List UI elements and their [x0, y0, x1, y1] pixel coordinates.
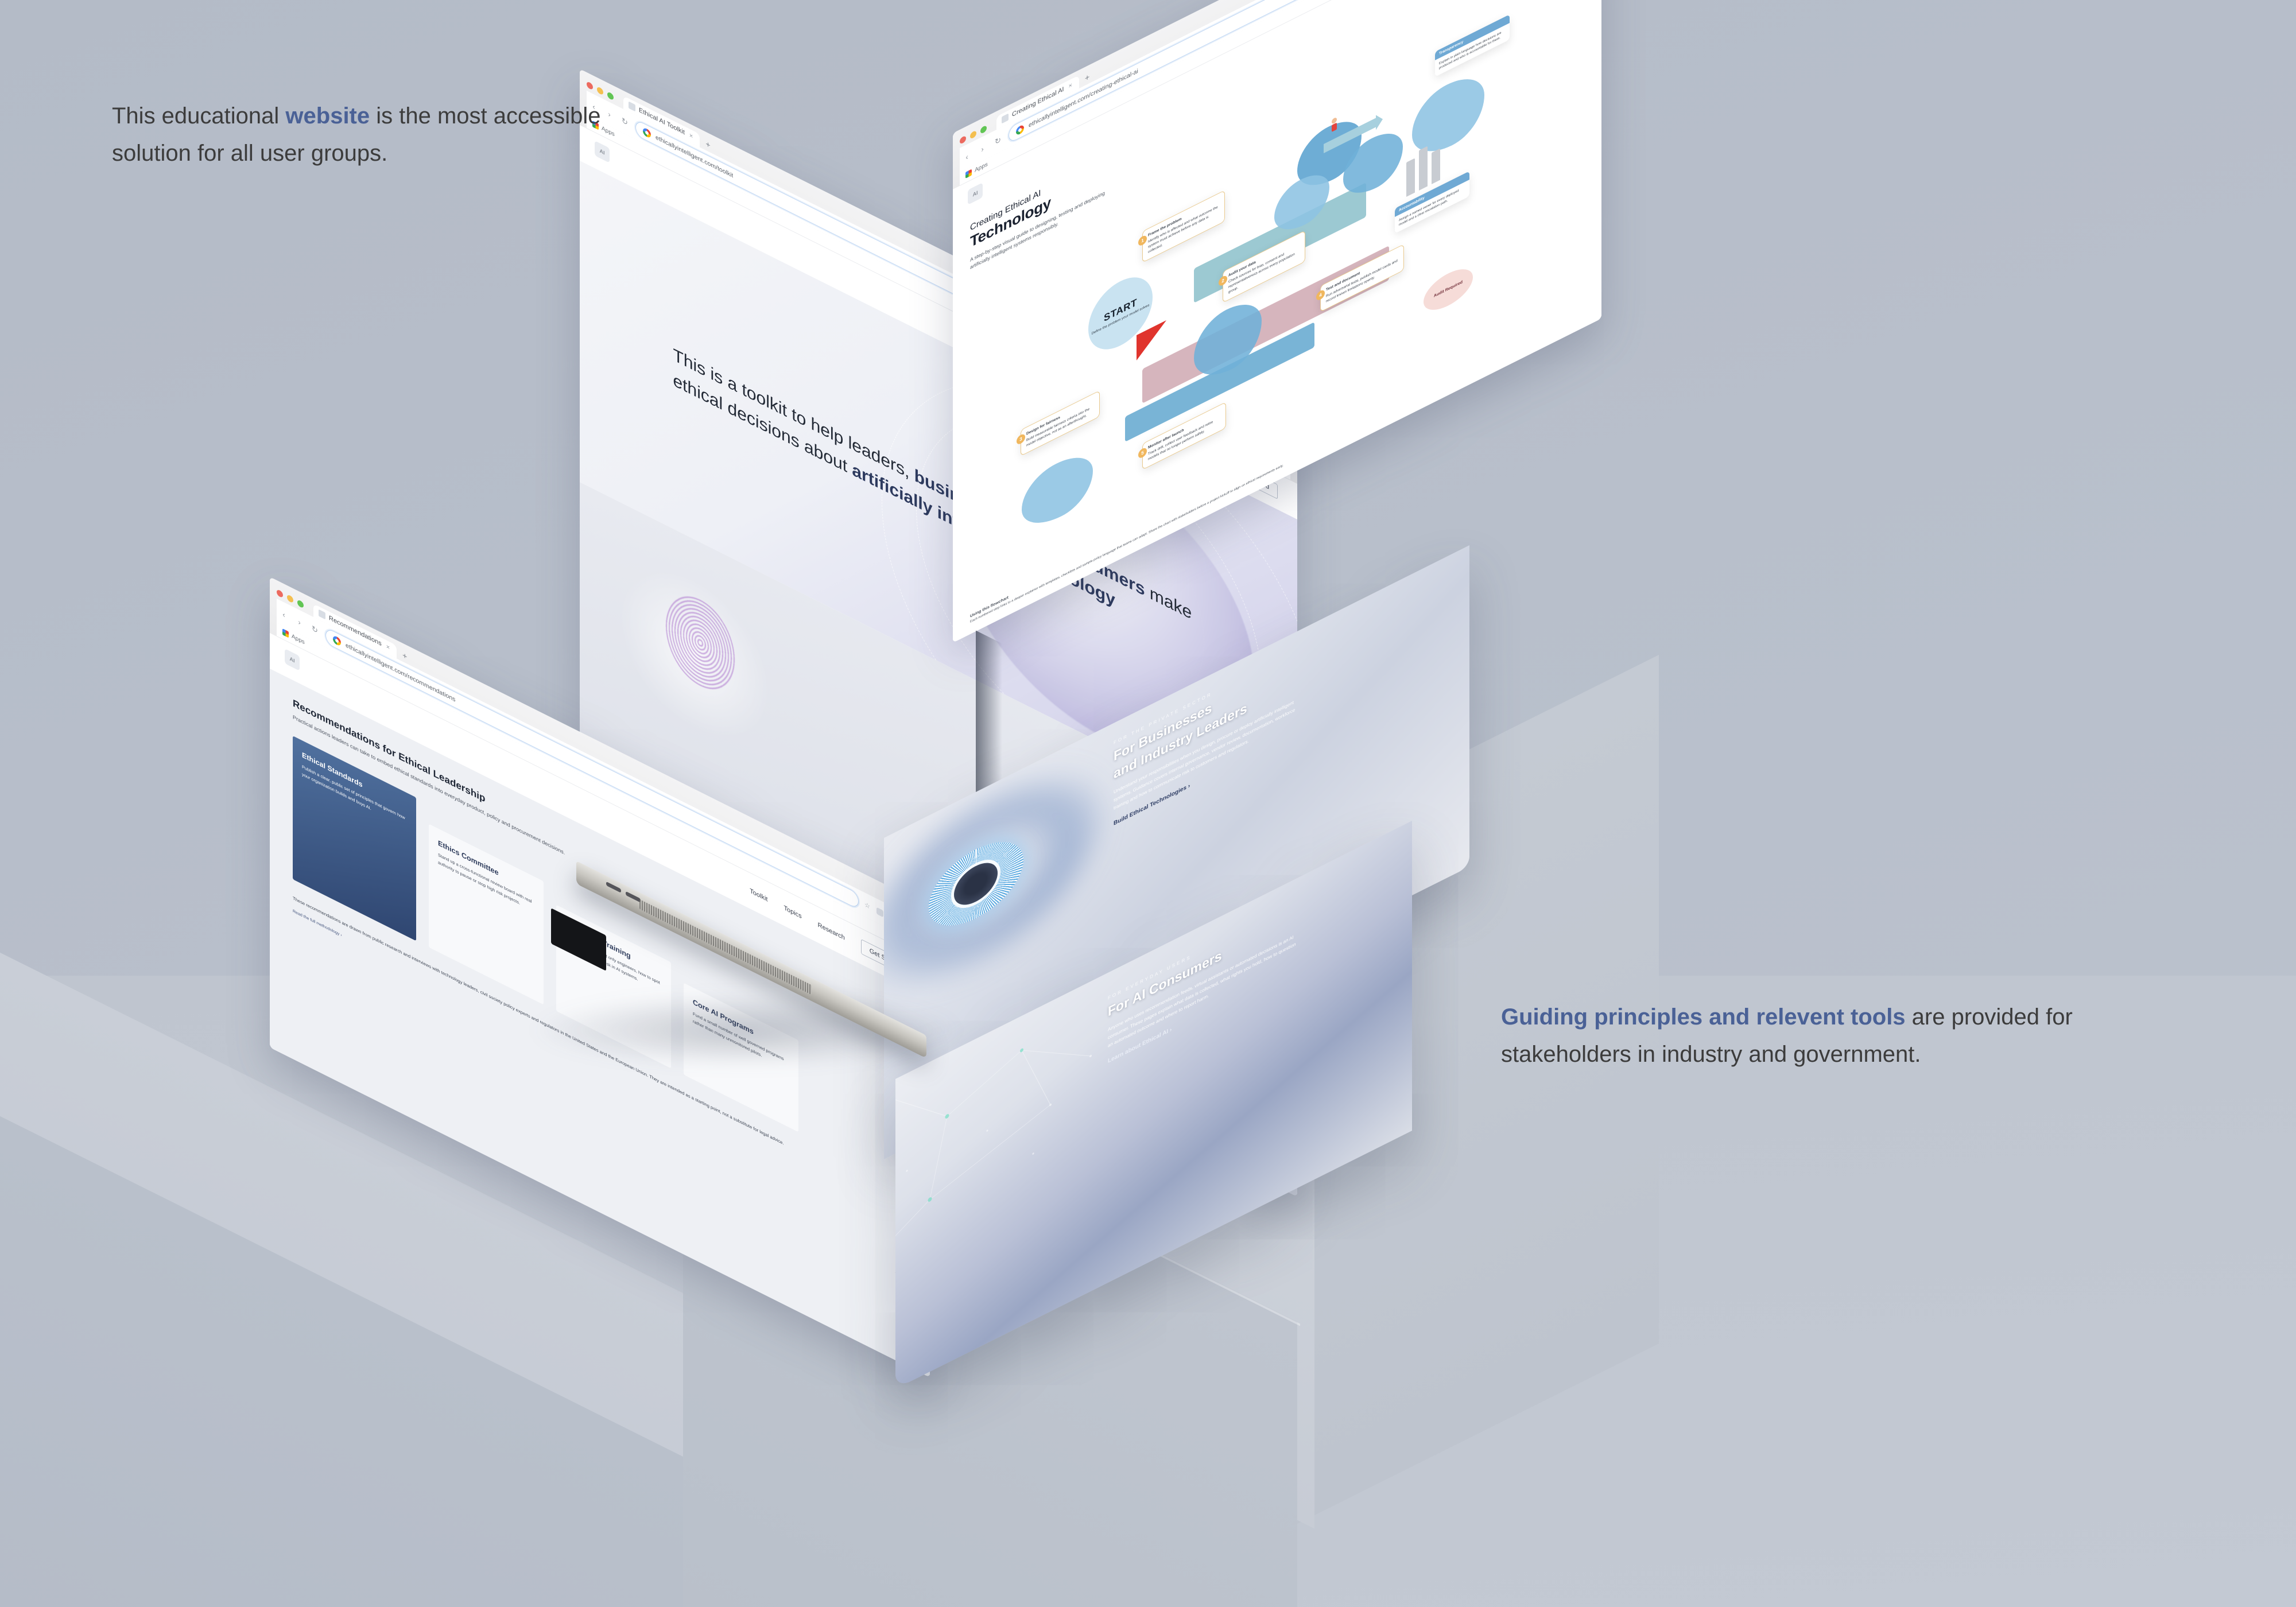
tab-favicon-icon [1002, 114, 1009, 124]
close-window-button[interactable] [587, 81, 593, 91]
back-button[interactable]: ‹ [962, 150, 972, 164]
google-g-icon [1016, 124, 1024, 136]
step-title: Frame the problem [1148, 197, 1219, 239]
nav-link-topics[interactable]: Topics [784, 905, 801, 921]
google-g-icon [643, 127, 651, 139]
reload-button[interactable]: ↻ [310, 623, 320, 637]
site-logo[interactable]: AI [968, 183, 983, 205]
person-body [1332, 123, 1337, 133]
maximize-window-button[interactable] [980, 125, 987, 135]
tab-favicon-icon [629, 102, 635, 112]
bookmark-favicon-icon [965, 169, 972, 179]
close-tab-icon[interactable]: × [1069, 81, 1072, 90]
minimize-window-button[interactable] [597, 86, 603, 96]
minimize-window-button[interactable] [970, 130, 976, 140]
isometric-mockup-scene: Ethical AI Toolkit × + ‹ › ↻ ethicallyin… [0, 0, 2296, 1607]
site-logo-label: AI [973, 189, 978, 198]
column-illustration-1 [1406, 158, 1415, 197]
google-g-icon [333, 635, 341, 647]
close-window-button[interactable] [277, 589, 283, 599]
annotation-top-left: This educational website is the most acc… [112, 98, 629, 172]
step-number: 3 [1017, 433, 1025, 446]
hero-headline-part1: This is a toolkit to help leaders, [673, 345, 914, 484]
laptop-port-left [606, 882, 621, 893]
step-number: 1 [1138, 234, 1147, 247]
close-tab-icon[interactable]: × [689, 131, 693, 140]
bookmark-star-icon[interactable]: ☆ [864, 901, 871, 911]
callout-card-transparency: Transparency Explain in plain language h… [1435, 14, 1510, 77]
annotation-accent-website: website [285, 103, 370, 129]
next-page-arrow-icon[interactable] [1576, 94, 1591, 126]
column-illustration-2 [1419, 146, 1428, 191]
annotation-text-before: This educational [112, 103, 285, 129]
laptop-port-right [626, 891, 641, 903]
step-body: Run adversarial tests, publish model car… [1326, 259, 1398, 303]
person-illustration [1332, 117, 1337, 134]
annotation-accent-principles: Guiding principles and relevent tools [1501, 1004, 1906, 1030]
column-illustration-3 [1432, 149, 1440, 185]
site-logo[interactable]: AI [285, 649, 300, 671]
step-callout-3: 3 Design for fairness Build measurable f… [1021, 390, 1100, 456]
flow-blob-6 [1022, 445, 1093, 536]
step-number: 5 [1138, 447, 1147, 460]
close-window-button[interactable] [960, 135, 966, 145]
extensions-icon[interactable] [876, 907, 883, 918]
reload-button[interactable]: ↻ [993, 134, 1003, 149]
bookmark-label: Apps [975, 161, 988, 174]
nav-link-toolkit[interactable]: Toolkit [750, 887, 767, 903]
back-button[interactable]: ‹ [279, 608, 289, 622]
forward-button[interactable]: › [294, 615, 304, 629]
annotation-bottom-right: Guiding principles and relevent tools ar… [1501, 999, 2150, 1073]
audit-required-stamp: Audit Required [1424, 261, 1473, 318]
tab-favicon-icon [319, 610, 325, 620]
forward-button[interactable]: › [978, 142, 987, 156]
maximize-window-button[interactable] [297, 599, 304, 609]
close-tab-icon[interactable]: × [386, 643, 390, 651]
site-logo-label: AI [290, 655, 295, 664]
nav-link-research[interactable]: Research [818, 921, 845, 942]
bookmark-favicon-icon [282, 628, 289, 638]
step-callout-1: 1 Frame the problem Identify who is affe… [1142, 190, 1225, 263]
minimize-window-button[interactable] [287, 594, 293, 604]
